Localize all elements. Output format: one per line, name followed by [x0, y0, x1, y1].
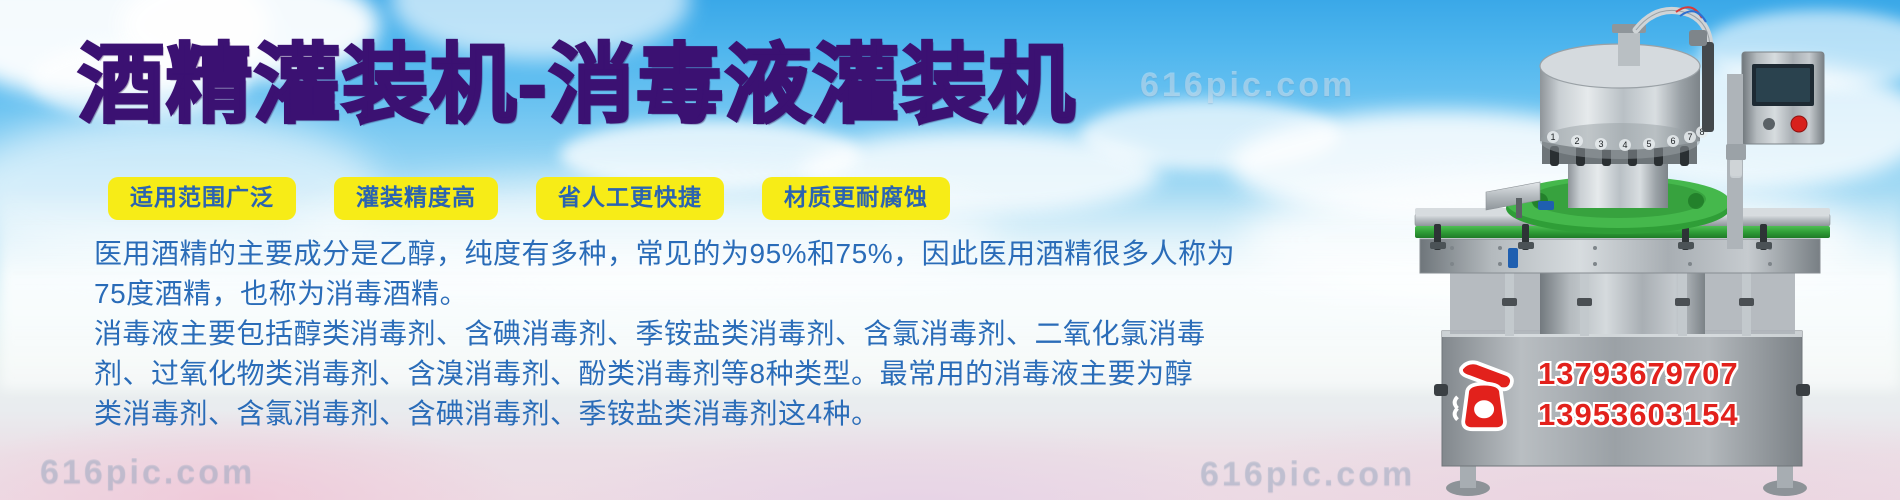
- telephone-icon: [1448, 355, 1524, 435]
- phone-secondary: 13953603154: [1538, 396, 1739, 435]
- description-line: 剂、过氧化物类消毒剂、含溴消毒剂、酚类消毒剂等8种类型。最常用的消毒液主要为醇: [94, 354, 1364, 394]
- description-line: 医用酒精的主要成分是乙醇，纯度有多种，常见的为95%和75%，因此医用酒精很多人…: [94, 234, 1364, 274]
- description-line: 75度酒精，也称为消毒酒精。: [94, 274, 1364, 314]
- promo-banner: 1 2 3 4 5 6 7 8: [0, 0, 1900, 500]
- svg-text:5: 5: [1646, 139, 1651, 149]
- feature-badge: 省人工更快捷: [536, 177, 724, 220]
- svg-text:3: 3: [1598, 139, 1603, 149]
- svg-text:6: 6: [1670, 136, 1675, 146]
- contact-block: 13793679707 13953603154: [1448, 355, 1739, 435]
- description-line: 消毒液主要包括醇类消毒剂、含碘消毒剂、季铵盐类消毒剂、含氯消毒剂、二氧化氯消毒: [94, 314, 1364, 354]
- feature-badges: 适用范围广泛 灌装精度高 省人工更快捷 材质更耐腐蚀: [108, 177, 950, 220]
- svg-text:4: 4: [1622, 140, 1627, 150]
- svg-text:2: 2: [1574, 136, 1579, 146]
- description-line: 类消毒剂、含氯消毒剂、含碘消毒剂、季铵盐类消毒剂这4种。: [94, 394, 1364, 434]
- feature-badge: 材质更耐腐蚀: [762, 177, 950, 220]
- description-text: 医用酒精的主要成分是乙醇，纯度有多种，常见的为95%和75%，因此医用酒精很多人…: [94, 234, 1364, 434]
- feature-badge: 适用范围广泛: [108, 177, 296, 220]
- banner-title: 酒精灌装机-消毒液灌装机: [78, 42, 1077, 128]
- phone-primary: 13793679707: [1538, 355, 1739, 394]
- phone-numbers: 13793679707 13953603154: [1538, 355, 1739, 435]
- svg-text:1: 1: [1550, 132, 1555, 142]
- feature-badge: 灌装精度高: [334, 177, 498, 220]
- svg-text:7: 7: [1687, 132, 1692, 142]
